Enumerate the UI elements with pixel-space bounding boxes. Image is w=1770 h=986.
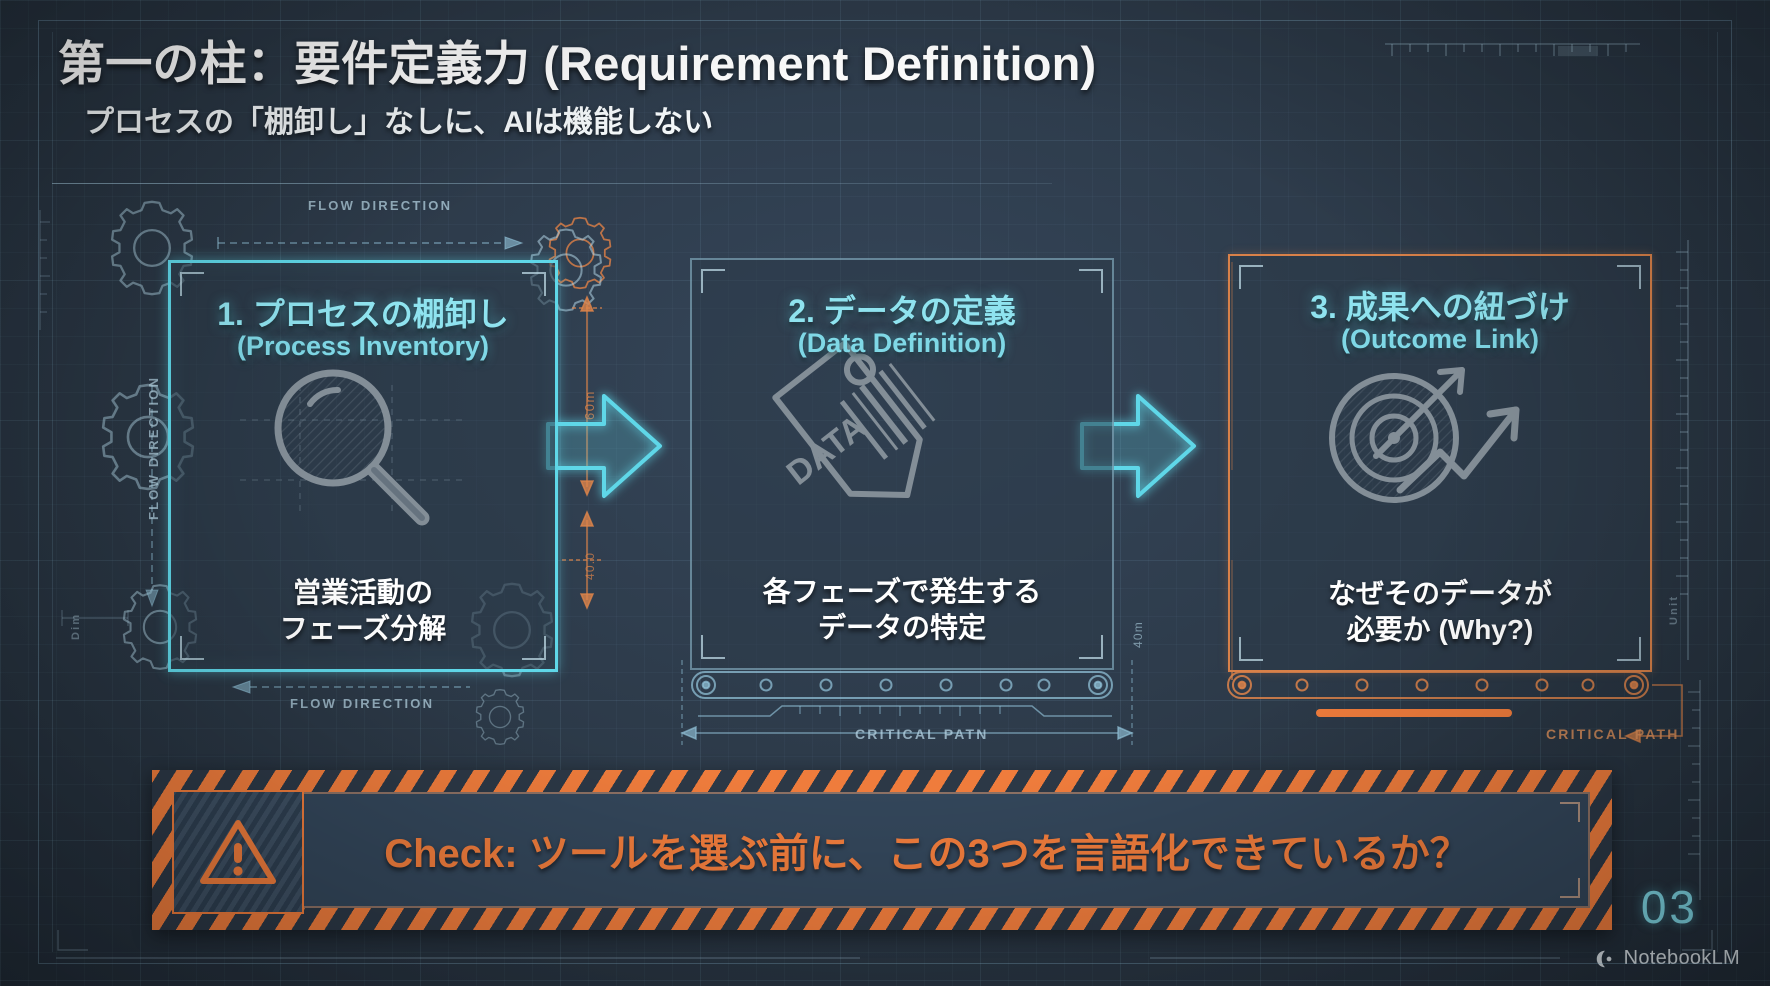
arrow-1-to-2	[548, 396, 660, 496]
dim-label-left: Dim	[70, 613, 82, 640]
corner-mark-tr	[1560, 802, 1580, 822]
card-3-caption: なぜそのデータが 必要か (Why?)	[1230, 576, 1650, 648]
svg-text:40m: 40m	[1131, 621, 1145, 648]
card-process-inventory[interactable]: 1. プロセスの棚卸し (Process Inventory) 営業活動の フェ…	[168, 260, 558, 672]
check-banner-inner: Check: ツールを選ぶ前に、この3つを言語化できているか？	[174, 792, 1590, 908]
card-outcome-link[interactable]: 3. 成果への紐づけ (Outcome Link) なぜそのデータが 必要か (…	[1228, 254, 1652, 672]
check-banner[interactable]: Check: ツールを選ぶ前に、この3つを言語化できているか？	[152, 770, 1612, 930]
card-2-title: 2. データの定義	[692, 286, 1112, 332]
critical-path-label-1: CRITICAL PATN	[855, 726, 989, 742]
brand-label: NotebookLM	[1624, 947, 1740, 970]
check-banner-text: Check: ツールを選ぶ前に、この3つを言語化できているか？	[296, 821, 1558, 879]
brand-notebooklm: NotebookLM	[1594, 947, 1740, 970]
dim-label-right: Unit	[1668, 595, 1680, 625]
page-number: 03	[1641, 880, 1698, 934]
slide-header: 第一の柱：要件定義力 (Requirement Definition) プロセス…	[58, 36, 1258, 141]
page-subtitle: プロセスの「棚卸し」なしに、AIは機能しない	[84, 97, 1258, 141]
critical-path-label-2: CRITICAL PATH	[1546, 726, 1680, 742]
card-1-title-en: (Process Inventory)	[171, 331, 555, 362]
page-title: 第一の柱：要件定義力 (Requirement Definition)	[58, 36, 1258, 91]
flow-direction-top-label: FLOW DIRECTION	[308, 198, 452, 213]
corner-mark-br	[1560, 878, 1580, 898]
card-1-caption: 営業活動の フェーズ分解	[171, 575, 555, 647]
card-data-definition[interactable]: 2. データの定義 (Data Definition) 各フェーズで発生する デ…	[690, 258, 1114, 670]
warning-triangle-icon	[172, 790, 304, 914]
card-3-title: 3. 成果への紐づけ	[1230, 282, 1650, 328]
header-divider	[52, 183, 1052, 184]
notebooklm-logo-icon	[1594, 948, 1616, 970]
card-1-title: 1. プロセスの棚卸し	[171, 289, 555, 335]
card-2-caption: 各フェーズで発生する データの特定	[692, 574, 1112, 646]
flow-direction-bottom-label: FLOW DIRECTION	[290, 696, 434, 711]
slide-canvas: 60m 40.0 40m	[0, 0, 1770, 986]
svg-text:40.0: 40.0	[583, 552, 597, 580]
card-3-title-en: (Outcome Link)	[1230, 324, 1650, 355]
svg-text:60m: 60m	[582, 390, 597, 420]
flow-direction-left-label: FLOW DIRECTION	[146, 376, 161, 520]
card-2-title-en: (Data Definition)	[692, 328, 1112, 359]
